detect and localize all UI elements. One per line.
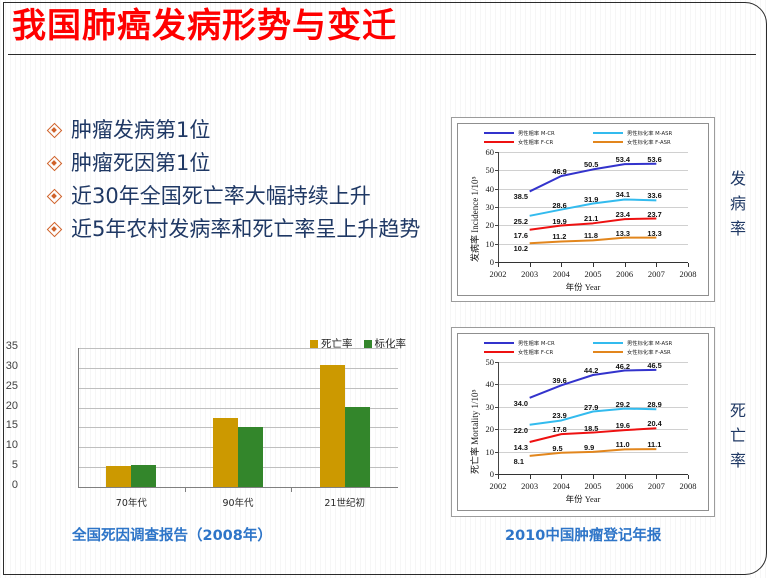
bullet-item-label: 肿瘤发病第1位 [71, 117, 210, 144]
bar-mortality [320, 365, 345, 487]
incidence-chart-legend: 男性粗率 M-CR男性标化率 M-ASR女性粗率 F-CR女性标化率 F-ASR [484, 129, 702, 147]
legend-line-swatch [593, 132, 623, 134]
bar-y-tick-label: 30 [0, 360, 18, 372]
diamond-bullet-icon [48, 190, 61, 203]
x-tick-mark [498, 475, 499, 479]
x-tick-mark [561, 475, 562, 479]
data-label: 27.9 [584, 403, 598, 412]
incidence-plot-area: 38.546.950.553.453.625.228.631.934.133.6… [498, 152, 688, 262]
x-tick-mark [625, 475, 626, 479]
data-label: 8.1 [514, 457, 524, 466]
legend-line-swatch [593, 351, 623, 353]
data-label: 19.9 [552, 217, 566, 226]
x-tick-label: 2006 [607, 481, 643, 491]
x-tick-label: 2007 [638, 481, 674, 491]
data-label: 50.5 [584, 160, 598, 169]
x-tick-label: 2002 [480, 481, 516, 491]
bar-y-tick-label: 20 [0, 400, 18, 412]
data-label: 53.6 [647, 155, 661, 164]
x-tick-label: 2004 [543, 269, 579, 279]
bar-standardized [345, 407, 370, 487]
incidence-chart-inner: 男性粗率 M-CR男性标化率 M-ASR女性粗率 F-CR女性标化率 F-ASR… [457, 123, 709, 296]
bar-legend-swatch [364, 340, 372, 348]
data-label: 9.9 [584, 443, 594, 452]
mortality-chart-legend: 男性粗率 M-CR男性标化率 M-ASR女性粗率 F-CR女性标化率 F-ASR [484, 339, 702, 357]
y-tick-label: 50 [476, 165, 494, 175]
x-tick-label: 2008 [670, 269, 706, 279]
data-label: 39.6 [552, 376, 566, 385]
y-tick-label: 60 [476, 147, 494, 157]
data-label: 33.6 [647, 191, 661, 200]
data-label: 31.9 [584, 195, 598, 204]
bar-y-tick-label: 5 [0, 459, 18, 471]
diamond-bullet-icon [48, 157, 61, 170]
bar-y-tick-label: 15 [0, 419, 18, 431]
bar-x-tick-label: 90年代 [198, 495, 278, 509]
side-label-char: 率 [727, 448, 749, 473]
data-label: 13.3 [647, 229, 661, 238]
bar-y-tick-label: 35 [0, 340, 18, 352]
data-label: 9.5 [552, 444, 562, 453]
x-tick-label: 2007 [638, 269, 674, 279]
bar-mortality [106, 466, 131, 487]
x-tick-mark [656, 475, 657, 479]
bullet-item: 肿瘤发病第1位 [48, 117, 438, 144]
data-label: 44.2 [584, 366, 598, 375]
legend-line-swatch [484, 351, 514, 353]
bar-y-tick-label: 0 [0, 479, 18, 491]
data-label: 28.9 [647, 400, 661, 409]
data-label: 46.9 [552, 167, 566, 176]
legend-line-swatch [593, 342, 623, 344]
bar-y-tick-label: 25 [0, 380, 18, 392]
data-label: 23.4 [616, 210, 630, 219]
line-chart-incidence: 男性粗率 M-CR男性标化率 M-ASR女性粗率 F-CR女性标化率 F-ASR… [451, 117, 715, 302]
x-tick-label: 2003 [512, 269, 548, 279]
side-label-char: 率 [727, 216, 749, 241]
y-axis-label: 死亡率 Mortality 1/10⁵ [468, 389, 481, 474]
title-underline [8, 54, 756, 55]
x-axis-label: 年份 Year [458, 493, 708, 505]
x-tick-label: 2006 [607, 269, 643, 279]
bar-standardized [131, 465, 156, 487]
line-chart-mortality: 男性粗率 M-CR男性标化率 M-ASR女性粗率 F-CR女性标化率 F-ASR… [451, 327, 715, 517]
legend-line-swatch [484, 342, 514, 344]
bullet-list: 肿瘤发病第1位肿瘤死因第1位近30年全国死亡率大幅持续上升近5年农村发病率和死亡… [48, 117, 438, 249]
bar-gridline [78, 368, 398, 369]
bar-standardized [238, 427, 263, 487]
data-label: 14.3 [514, 443, 528, 452]
data-label: 46.2 [616, 362, 630, 371]
data-label: 11.1 [647, 440, 661, 449]
line-charts-caption: 2010中国肿瘤登记年报 [505, 524, 661, 545]
bullet-item-label: 肿瘤死因第1位 [71, 150, 210, 177]
bullet-item: 近5年农村发病率和死亡率呈上升趋势 [48, 216, 438, 243]
incidence-side-label: 发病率 [727, 166, 749, 241]
x-tick-mark [656, 263, 657, 267]
legend-item: 女性标化率 F-ASR [593, 138, 702, 146]
data-label: 10.2 [514, 244, 528, 253]
data-label: 29.2 [616, 400, 630, 409]
legend-label: 男性粗率 M-CR [518, 339, 555, 347]
bar-legend-swatch [310, 340, 318, 348]
side-label-char: 死 [727, 398, 749, 423]
data-label: 20.4 [647, 419, 661, 428]
data-label: 22.0 [514, 426, 528, 435]
data-label: 38.5 [514, 192, 528, 201]
bar-gridline [78, 388, 398, 389]
data-label: 11.8 [584, 231, 598, 240]
data-label: 18.5 [584, 424, 598, 433]
data-label: 53.4 [616, 155, 630, 164]
mortality-plot-area: 34.039.644.246.246.522.023.927.929.228.9… [498, 362, 688, 474]
series-lines [498, 362, 688, 474]
side-label-char: 亡 [727, 423, 749, 448]
legend-item: 女性粗率 F-CR [484, 348, 593, 356]
bullet-item: 肿瘤死因第1位 [48, 150, 438, 177]
data-label: 11.0 [616, 440, 630, 449]
bar-x-axis [78, 487, 398, 488]
legend-item: 男性粗率 M-CR [484, 129, 593, 137]
x-tick-label: 2004 [543, 481, 579, 491]
bar-y-tick-label: 10 [0, 439, 18, 451]
bar-y-axis [78, 348, 79, 487]
legend-item: 女性标化率 F-ASR [593, 348, 702, 356]
data-label: 28.6 [552, 201, 566, 210]
legend-label: 女性粗率 F-CR [518, 348, 553, 356]
mortality-chart-inner: 男性粗率 M-CR男性标化率 M-ASR女性粗率 F-CR女性标化率 F-ASR… [457, 333, 709, 511]
data-label: 13.3 [616, 229, 630, 238]
legend-line-swatch [593, 141, 623, 143]
x-tick-mark [593, 263, 594, 267]
y-tick-label: 50 [476, 357, 494, 367]
bar-x-tick-label: 70年代 [91, 495, 171, 509]
slide-canvas: 我国肺癌发病形势与变迁 肿瘤发病第1位肿瘤死因第1位近30年全国死亡率大幅持续上… [0, 0, 770, 578]
bullet-item-label: 近5年农村发病率和死亡率呈上升趋势 [71, 216, 420, 243]
y-axis-label: 发病率 Incidence 1/10⁵ [468, 176, 481, 262]
bar-category-separator [291, 487, 292, 492]
bar-mortality [213, 418, 238, 487]
data-label: 34.0 [514, 399, 528, 408]
legend-line-swatch [484, 132, 514, 134]
diamond-bullet-icon [48, 223, 61, 236]
x-tick-mark [593, 475, 594, 479]
legend-label: 男性粗率 M-CR [518, 129, 555, 137]
legend-label: 女性标化率 F-ASR [627, 138, 671, 146]
legend-item: 男性粗率 M-CR [484, 339, 593, 347]
side-label-char: 发 [727, 166, 749, 191]
data-label: 25.2 [514, 217, 528, 226]
legend-label: 女性粗率 F-CR [518, 138, 553, 146]
legend-label: 男性标化率 M-ASR [627, 339, 672, 347]
side-label-char: 病 [727, 191, 749, 216]
x-tick-mark [530, 475, 531, 479]
x-tick-label: 2005 [575, 269, 611, 279]
y-tick-label: 40 [476, 379, 494, 389]
legend-item: 男性标化率 M-ASR [593, 129, 702, 137]
bar-gridline [78, 348, 398, 349]
data-label: 17.8 [552, 425, 566, 434]
bullet-item: 近30年全国死亡率大幅持续上升 [48, 183, 438, 210]
data-label: 23.7 [647, 210, 661, 219]
x-axis-label: 年份 Year [458, 281, 708, 293]
x-tick-label: 2002 [480, 269, 516, 279]
data-label: 21.1 [584, 214, 598, 223]
x-tick-label: 2005 [575, 481, 611, 491]
data-label: 23.9 [552, 411, 566, 420]
x-tick-label: 2008 [670, 481, 706, 491]
data-label: 11.2 [552, 232, 566, 241]
data-label: 17.6 [514, 231, 528, 240]
data-label: 46.5 [647, 361, 661, 370]
legend-label: 女性标化率 F-ASR [627, 348, 671, 356]
bar-chart-mortality-trend: 死亡率标化率 0510152025303570年代90年代21世纪初 [22, 334, 410, 516]
slide-title: 我国肺癌发病形势与变迁 [12, 4, 397, 48]
x-tick-mark [530, 263, 531, 267]
data-label: 34.1 [616, 190, 630, 199]
x-tick-mark [625, 263, 626, 267]
legend-item: 女性粗率 F-CR [484, 138, 593, 146]
legend-item: 男性标化率 M-ASR [593, 339, 702, 347]
data-label: 19.6 [616, 421, 630, 430]
x-tick-mark [561, 263, 562, 267]
bullet-item-label: 近30年全国死亡率大幅持续上升 [71, 183, 371, 210]
bar-chart-caption: 全国死因调查报告（2008年） [72, 524, 272, 545]
x-tick-mark [688, 475, 689, 479]
legend-label: 男性标化率 M-ASR [627, 129, 672, 137]
bar-category-separator [185, 487, 186, 492]
legend-line-swatch [484, 141, 514, 143]
x-tick-mark [688, 263, 689, 267]
bar-x-tick-label: 21世纪初 [305, 495, 385, 509]
x-tick-mark [498, 263, 499, 267]
mortality-side-label: 死亡率 [727, 398, 749, 473]
diamond-bullet-icon [48, 124, 61, 137]
x-tick-label: 2003 [512, 481, 548, 491]
bar-chart-plot-area [78, 348, 398, 487]
